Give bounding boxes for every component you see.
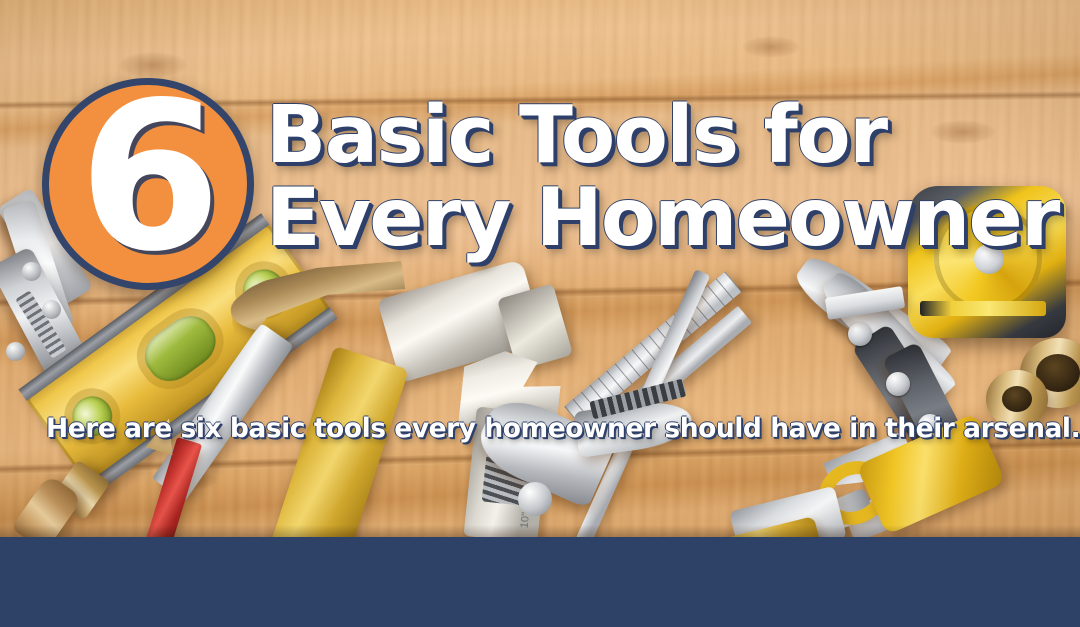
locking-pliers-rivet [42,300,61,319]
tin-snips-bolt [848,322,872,346]
wood-knot [742,36,800,58]
number-badge: 6 [42,78,254,290]
spirit-level-vial [136,307,225,391]
badge-number: 6 [79,94,218,262]
locking-pliers-rivet [6,342,25,361]
bottom-bar [0,537,1080,627]
pliers-pivot [518,482,552,516]
tin-snips-bolt [886,372,910,396]
poster-canvas: 10" 6 Basic Tools for Every Homeo [0,0,1080,627]
tape-measure-label [920,301,1046,316]
bottom-bar-shadow [0,525,1080,537]
subtitle: Here are six basic tools every homeowner… [46,416,1080,443]
title-line-2: Every Homeowner [266,178,1066,257]
fitting-bore [1002,386,1032,412]
title-line-1: Basic Tools for [266,96,1066,174]
page-title: Basic Tools for Every Homeowner [266,96,1066,257]
locking-pliers-rivet [22,262,41,281]
